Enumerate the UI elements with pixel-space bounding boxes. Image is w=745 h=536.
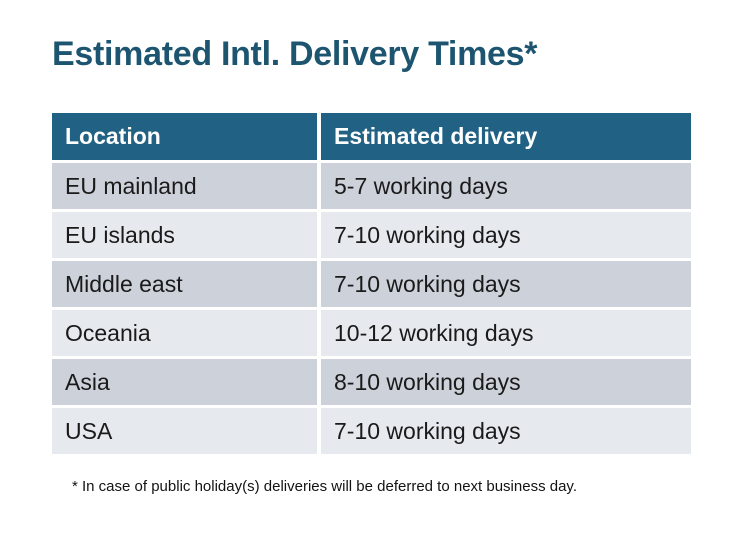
footnote-text: * In case of public holiday(s) deliverie… xyxy=(72,478,577,495)
delivery-times-table: Location Estimated delivery EU mainland … xyxy=(52,113,691,457)
cell-location: Asia xyxy=(52,359,317,405)
table-row: Middle east 7-10 working days xyxy=(52,261,691,307)
cell-delivery: 7-10 working days xyxy=(321,261,691,307)
cell-location: Middle east xyxy=(52,261,317,307)
cell-delivery: 7-10 working days xyxy=(321,408,691,454)
page-title: Estimated Intl. Delivery Times* xyxy=(52,36,537,73)
table-header-row: Location Estimated delivery xyxy=(52,113,691,160)
cell-delivery: 8-10 working days xyxy=(321,359,691,405)
column-header-estimated-delivery: Estimated delivery xyxy=(321,113,691,160)
cell-delivery: 5-7 working days xyxy=(321,163,691,209)
cell-delivery: 10-12 working days xyxy=(321,310,691,356)
table-row: EU mainland 5-7 working days xyxy=(52,163,691,209)
table-row: Asia 8-10 working days xyxy=(52,359,691,405)
table-row: EU islands 7-10 working days xyxy=(52,212,691,258)
table-row: USA 7-10 working days xyxy=(52,408,691,454)
cell-location: EU mainland xyxy=(52,163,317,209)
delivery-times-page: Estimated Intl. Delivery Times* Location… xyxy=(0,0,745,536)
cell-location: USA xyxy=(52,408,317,454)
column-header-location: Location xyxy=(52,113,317,160)
cell-location: Oceania xyxy=(52,310,317,356)
cell-delivery: 7-10 working days xyxy=(321,212,691,258)
table-row: Oceania 10-12 working days xyxy=(52,310,691,356)
cell-location: EU islands xyxy=(52,212,317,258)
